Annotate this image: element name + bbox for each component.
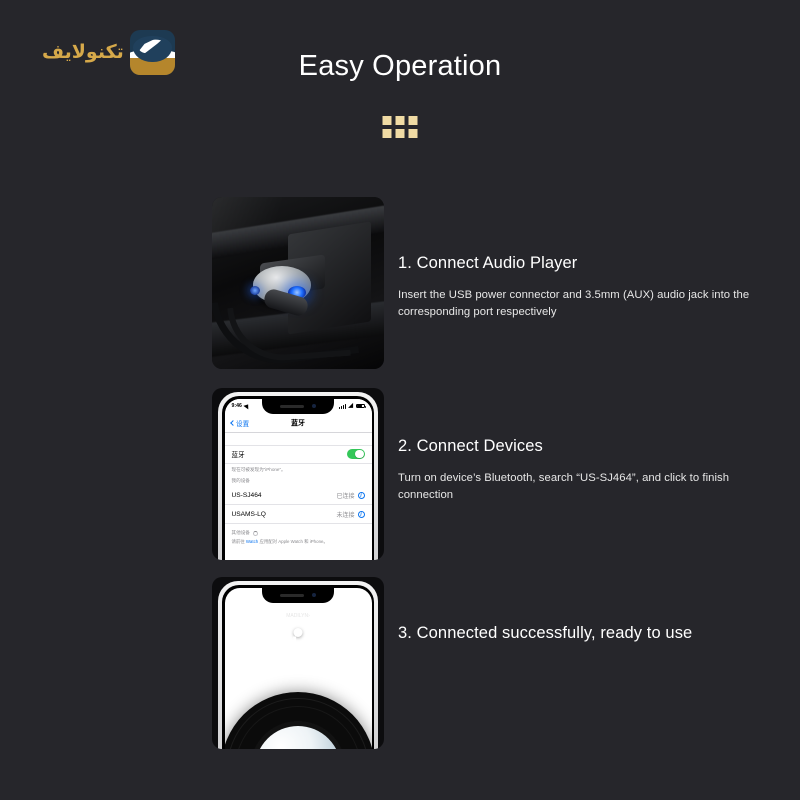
device-name: USAMS-LQ	[232, 511, 266, 518]
product-infographic-page: تکنولایف Easy Operation	[0, 0, 800, 800]
song-artist[interactable]: MADILYN›	[286, 613, 310, 619]
bluetooth-toggle-row[interactable]: 蓝牙	[225, 445, 372, 464]
device-row[interactable]: US-SJ464 已连接 i	[225, 486, 372, 505]
device-state: 已连接	[336, 491, 354, 500]
location-arrow-icon	[243, 403, 250, 410]
steps-list: 1. Connect Audio Player Insert the USB p…	[0, 197, 800, 761]
refresh-icon[interactable]	[356, 606, 364, 614]
turntable-tonearm-icon	[293, 635, 325, 694]
vinyl-record-artwork	[225, 692, 372, 750]
iphone-notch	[262, 588, 334, 603]
device-row[interactable]: USAMS-LQ 未连接 i	[225, 505, 372, 524]
loading-spinner-icon	[253, 531, 258, 536]
iphone-frame: 9:46 ◢	[218, 392, 378, 560]
cellular-signal-icon	[339, 593, 346, 598]
page-title: Easy Operation	[0, 50, 800, 83]
step-item: 9:46 ◢	[0, 384, 800, 574]
step-item: 6:30 ◢	[0, 571, 800, 761]
discoverable-note: 现在可被发现为“iPhone”。	[225, 464, 372, 474]
decorative-dot-grid-icon	[383, 116, 418, 138]
footer-text-after: 应用配对 Apple Watch 和 iPhone。	[259, 539, 327, 544]
step-item: 1. Connect Audio Player Insert the USB p…	[0, 197, 800, 387]
wifi-icon: ◢	[348, 592, 353, 598]
step-title: 1. Connect Audio Player	[398, 253, 758, 274]
location-arrow-icon	[243, 592, 250, 599]
status-time: 9:46	[232, 403, 242, 409]
iphone-bluetooth-settings-screenshot: 9:46 ◢	[212, 388, 384, 560]
info-icon[interactable]: i	[358, 511, 365, 518]
back-icon[interactable]	[231, 605, 239, 613]
watch-pairing-footer: 请前往 Watch 应用配对 Apple Watch 和 iPhone。	[225, 538, 372, 547]
turntable-tonearm-pivot-icon	[294, 628, 303, 637]
my-devices-header: 我的设备	[225, 473, 372, 486]
nav-bar: 设置 蓝牙	[225, 414, 372, 433]
other-devices-header-row: 其他设备	[225, 524, 372, 538]
battery-icon	[356, 404, 365, 409]
step-copy: 3. Connected successfully, ready to use	[398, 623, 758, 657]
step-copy: 2. Connect Devices Turn on device’s Blue…	[398, 436, 758, 505]
iphone-music-player-screenshot: 6:30 ◢	[212, 577, 384, 749]
song-title: Perfect	[286, 605, 310, 613]
cellular-signal-icon	[339, 404, 346, 409]
wifi-icon: ◢	[348, 403, 353, 409]
footer-text-before: 请前往	[232, 539, 245, 544]
step-title: 2. Connect Devices	[398, 436, 758, 457]
album-art-label	[255, 726, 341, 750]
player-nav-bar: Perfect MADILYN›	[225, 603, 372, 625]
back-to-settings-button[interactable]: 设置	[231, 418, 250, 428]
battery-icon	[356, 593, 365, 598]
step-description: Turn on device’s Bluetooth, search “US-S…	[398, 470, 758, 505]
chevron-left-icon	[230, 420, 236, 426]
step-copy: 1. Connect Audio Player Insert the USB p…	[398, 253, 758, 322]
device-name: US-SJ464	[232, 492, 262, 499]
iphone-notch	[262, 399, 334, 414]
aux-receiver-in-car-photo	[212, 197, 384, 369]
info-icon[interactable]: i	[358, 492, 365, 499]
bluetooth-toggle-switch[interactable]	[347, 449, 365, 460]
device-state: 未连接	[336, 510, 354, 519]
watch-app-link[interactable]: Watch	[246, 539, 258, 544]
back-label: 设置	[236, 418, 249, 428]
bluetooth-row-label: 蓝牙	[232, 449, 245, 459]
status-time: 6:30	[232, 592, 242, 598]
other-devices-header: 其他设备	[232, 530, 250, 536]
step-description: Insert the USB power connector and 3.5mm…	[398, 287, 758, 322]
step-title: 3. Connected successfully, ready to use	[398, 623, 758, 644]
iphone-frame: 6:30 ◢	[218, 581, 378, 749]
